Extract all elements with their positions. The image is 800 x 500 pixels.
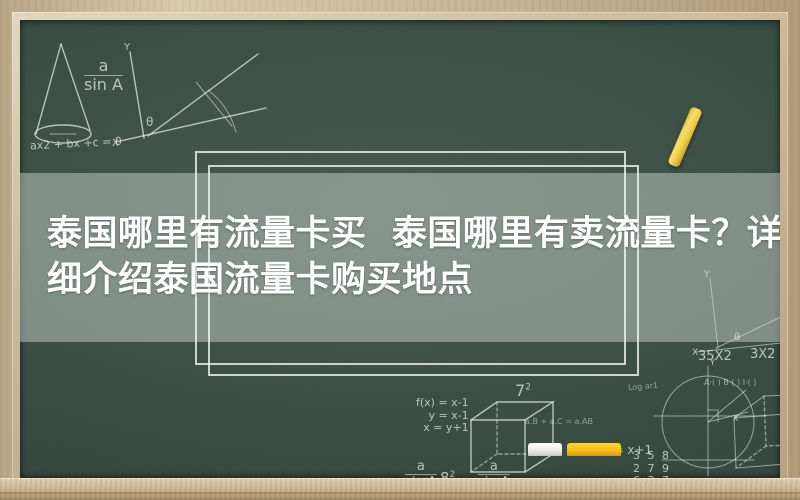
tray-lip bbox=[0, 492, 800, 494]
chalk-tray bbox=[0, 478, 800, 500]
axis-label-y-top: Y bbox=[124, 42, 130, 54]
fraction-a-sin-a-left: a sin A bbox=[405, 460, 437, 478]
page-title: 泰国哪里有流量卡买 泰国哪里有卖流量卡？详细介绍泰国流量卡购买地点 bbox=[47, 212, 780, 303]
axis-label-x-top: X bbox=[112, 138, 119, 150]
circle-axis-y: Y bbox=[710, 358, 715, 367]
eight-squared: 82 bbox=[440, 470, 455, 478]
angle-label-top: θ bbox=[146, 116, 153, 130]
function-equations: f(x) = x-1 y = x-1 x = y+1 bbox=[416, 397, 469, 435]
yellow-chalk-piece bbox=[567, 443, 621, 456]
white-chalk-piece bbox=[528, 443, 562, 456]
angle-label-right: θ bbox=[734, 332, 740, 344]
chalkboard-banner: a sin A ax2 + bx +c = 0 Y X θ bbox=[0, 0, 800, 500]
digit-stack: 3 5 8 2 7 9 6 3 7 bbox=[633, 450, 671, 478]
small-formula-center: a.B + a.C = a.AB bbox=[525, 417, 593, 426]
chalkboard-surface: a sin A ax2 + bx +c = 0 Y X θ bbox=[20, 20, 780, 478]
seven-squared: 72 bbox=[515, 382, 531, 400]
fraction-a-sin-a-mid: a sin A bbox=[478, 460, 510, 478]
cube-diagram-right bbox=[728, 392, 780, 474]
yellow-chalk-stick-icon bbox=[667, 106, 702, 168]
